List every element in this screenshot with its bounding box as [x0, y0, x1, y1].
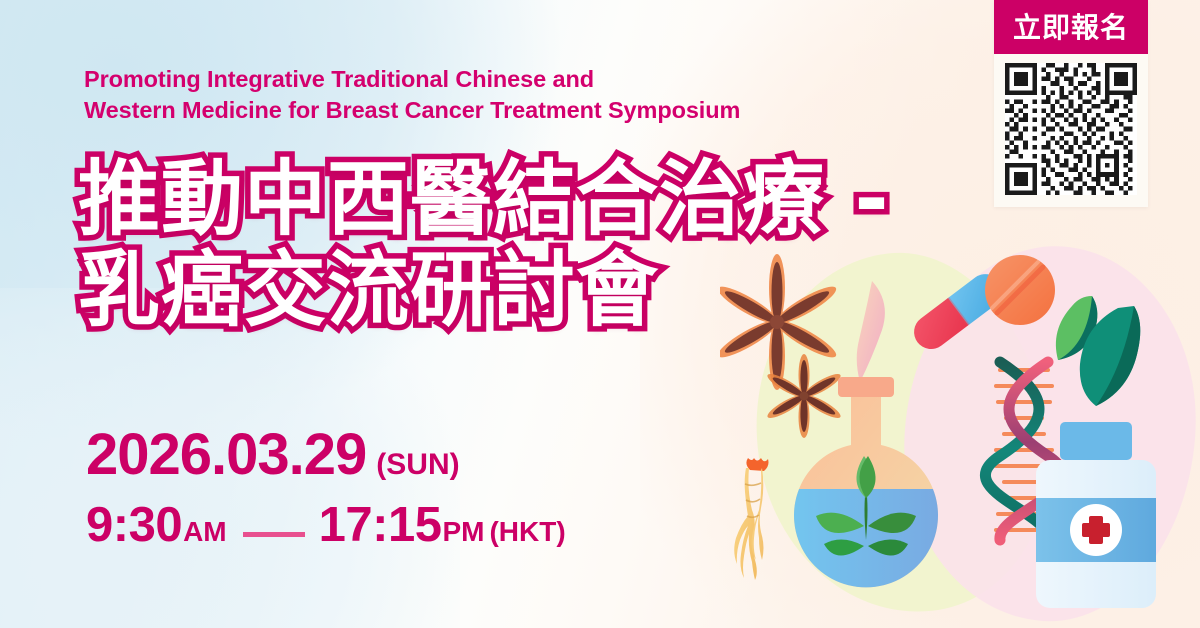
steam-wisp-icon — [857, 281, 885, 382]
event-time-start: 9:30 — [86, 501, 182, 550]
round-tablet-icon — [985, 255, 1055, 325]
event-timezone: (HKT) — [489, 518, 565, 546]
event-day-of-week: (SUN) — [376, 450, 459, 480]
ginseng-root-icon — [734, 458, 768, 580]
promotional-banner: Promoting Integrative Traditional Chines… — [0, 0, 1200, 628]
registration-qr-card[interactable]: 立即報名 — [994, 0, 1148, 207]
event-time-start-suffix: AM — [183, 518, 227, 546]
green-leaves-icon — [1056, 296, 1140, 406]
time-range-dash-icon — [243, 532, 305, 537]
event-datetime: 2026.03.29 (SUN) 9:30 AM 17:15 PM (HKT) — [86, 426, 566, 550]
event-time-end: 17:15 — [319, 501, 442, 550]
registration-label: 立即報名 — [994, 0, 1148, 54]
event-subtitle-english: Promoting Integrative Traditional Chines… — [84, 64, 740, 126]
event-date-row: 2026.03.29 (SUN) — [86, 426, 566, 484]
event-date: 2026.03.29 — [86, 426, 366, 484]
qr-code-icon[interactable] — [994, 54, 1148, 207]
star-anise-large-icon — [720, 254, 840, 390]
event-title-line-1: 推動中西醫結合治療 - — [78, 160, 948, 240]
event-time-row: 9:30 AM 17:15 PM (HKT) — [86, 501, 566, 550]
medical-illustration — [720, 240, 1200, 628]
medicine-bottle-icon — [1036, 422, 1156, 608]
event-time-end-suffix: PM — [442, 518, 484, 546]
